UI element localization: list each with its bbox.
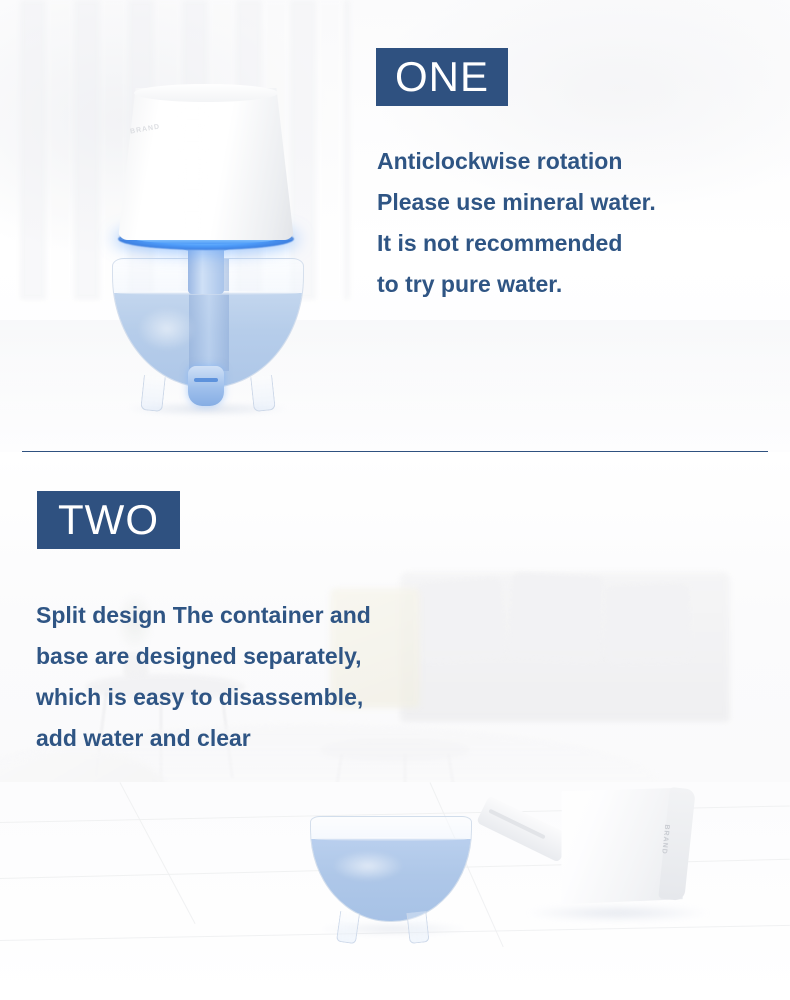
floor-plank-line — [120, 782, 196, 924]
cushion-shape — [508, 572, 604, 663]
product-image-humidifier-split: BRAND — [296, 772, 716, 952]
product-one-top-unit — [118, 88, 294, 240]
section-one-badge: ONE — [376, 48, 508, 106]
product-one-leg-left — [140, 375, 166, 412]
product-one-top-rim — [134, 84, 278, 102]
product-one-leg-right — [250, 375, 276, 412]
section-one-body-text: Anticlockwise rotation Please use minera… — [377, 141, 717, 305]
product-infographic-page: BRAND ONE Anticlockwise rotation Please … — [0, 0, 790, 1000]
product-two-leg-left — [336, 911, 360, 944]
product-image-humidifier-assembled: BRAND — [100, 80, 315, 390]
product-one-center-nozzle — [188, 366, 224, 406]
product-two-water-highlight — [333, 851, 403, 881]
section-two-badge: TWO — [37, 491, 180, 549]
cushion-shape — [605, 583, 692, 664]
product-two-unit-shadow — [528, 904, 708, 922]
section-two-body-text: Split design The container and base are … — [36, 595, 456, 759]
product-two-leg-right — [406, 911, 429, 944]
product-one-nozzle-slit — [194, 378, 218, 382]
product-two-water-surface — [315, 837, 467, 841]
product-two-water-bowl — [310, 816, 472, 922]
product-one-gloss-highlight — [180, 100, 206, 240]
product-one-water-highlight — [137, 307, 197, 351]
